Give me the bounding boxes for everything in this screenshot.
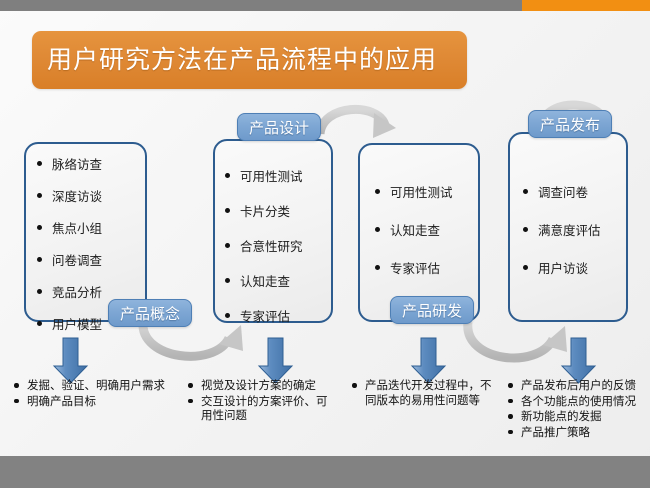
outcome-item: 发掘、验证、明确用户需求: [14, 378, 186, 393]
slide-canvas: 用户研究方法在产品流程中的应用: [0, 0, 650, 488]
outcome-item: 产品发布后用户的反馈: [508, 378, 646, 393]
top-bar-orange: [522, 0, 650, 11]
method-item: 深度访谈: [36, 186, 141, 205]
top-bar-gray: [0, 0, 522, 11]
method-item: 调查问卷: [522, 182, 627, 201]
title-banner: 用户研究方法在产品流程中的应用: [32, 31, 467, 89]
arch-arrow-bottom-2: [468, 322, 567, 358]
phase-method-list-2: 可用性测试 卡片分类 合意性研究 认知走查 专家评估: [224, 166, 329, 325]
slide-title: 用户研究方法在产品流程中的应用: [47, 31, 437, 89]
method-item: 脉络访查: [36, 154, 141, 173]
method-item: 合意性研究: [224, 236, 329, 255]
down-arrow-2: [259, 338, 292, 383]
down-arrow-1: [54, 338, 87, 383]
method-item: 可用性测试: [374, 182, 479, 201]
method-item: 用户访谈: [522, 258, 627, 277]
stage-tag-product-design[interactable]: 产品设计: [237, 113, 321, 141]
phase-method-list-4: 调查问卷 满意度评估 用户访谈: [522, 182, 627, 277]
down-arrow-4: [562, 338, 595, 383]
method-item: 问卷调查: [36, 250, 141, 269]
outcome-group-2: 视觉及设计方案的确定 交互设计的方案评价、可用性问题: [188, 378, 336, 424]
outcome-group-3: 产品迭代开发过程中，不同版本的易用性问题等: [352, 378, 502, 408]
footer-bar: [0, 456, 650, 488]
method-item: 专家评估: [224, 306, 329, 325]
method-item: 认知走查: [224, 271, 329, 290]
outcome-item: 视觉及设计方案的确定: [188, 378, 336, 393]
outcome-item: 产品推广策略: [508, 425, 646, 440]
method-item: 可用性测试: [224, 166, 329, 185]
method-item: 卡片分类: [224, 201, 329, 220]
outcome-item: 明确产品目标: [14, 394, 186, 409]
stage-tag-product-concept[interactable]: 产品概念: [108, 299, 192, 327]
outcome-item: 各个功能点的使用情况: [508, 394, 646, 409]
method-item: 专家评估: [374, 258, 479, 277]
arch-arrow-top-1: [320, 109, 396, 138]
outcome-item: 产品迭代开发过程中，不同版本的易用性问题等: [352, 378, 502, 407]
outcome-item: 新功能点的发掘: [508, 409, 646, 424]
outcome-group-4: 产品发布后用户的反馈 各个功能点的使用情况 新功能点的发掘 产品推广策略: [508, 378, 646, 440]
method-item: 认知走查: [374, 220, 479, 239]
stage-tag-product-release[interactable]: 产品发布: [528, 110, 612, 138]
phase-method-list-3: 可用性测试 认知走查 专家评估: [374, 182, 479, 277]
outcome-group-1: 发掘、验证、明确用户需求 明确产品目标: [14, 378, 186, 409]
stage-tag-product-dev[interactable]: 产品研发: [390, 296, 474, 324]
down-arrow-3: [412, 338, 445, 383]
method-item: 满意度评估: [522, 220, 627, 239]
method-item: 焦点小组: [36, 218, 141, 237]
outcome-item: 交互设计的方案评价、可用性问题: [188, 394, 336, 423]
